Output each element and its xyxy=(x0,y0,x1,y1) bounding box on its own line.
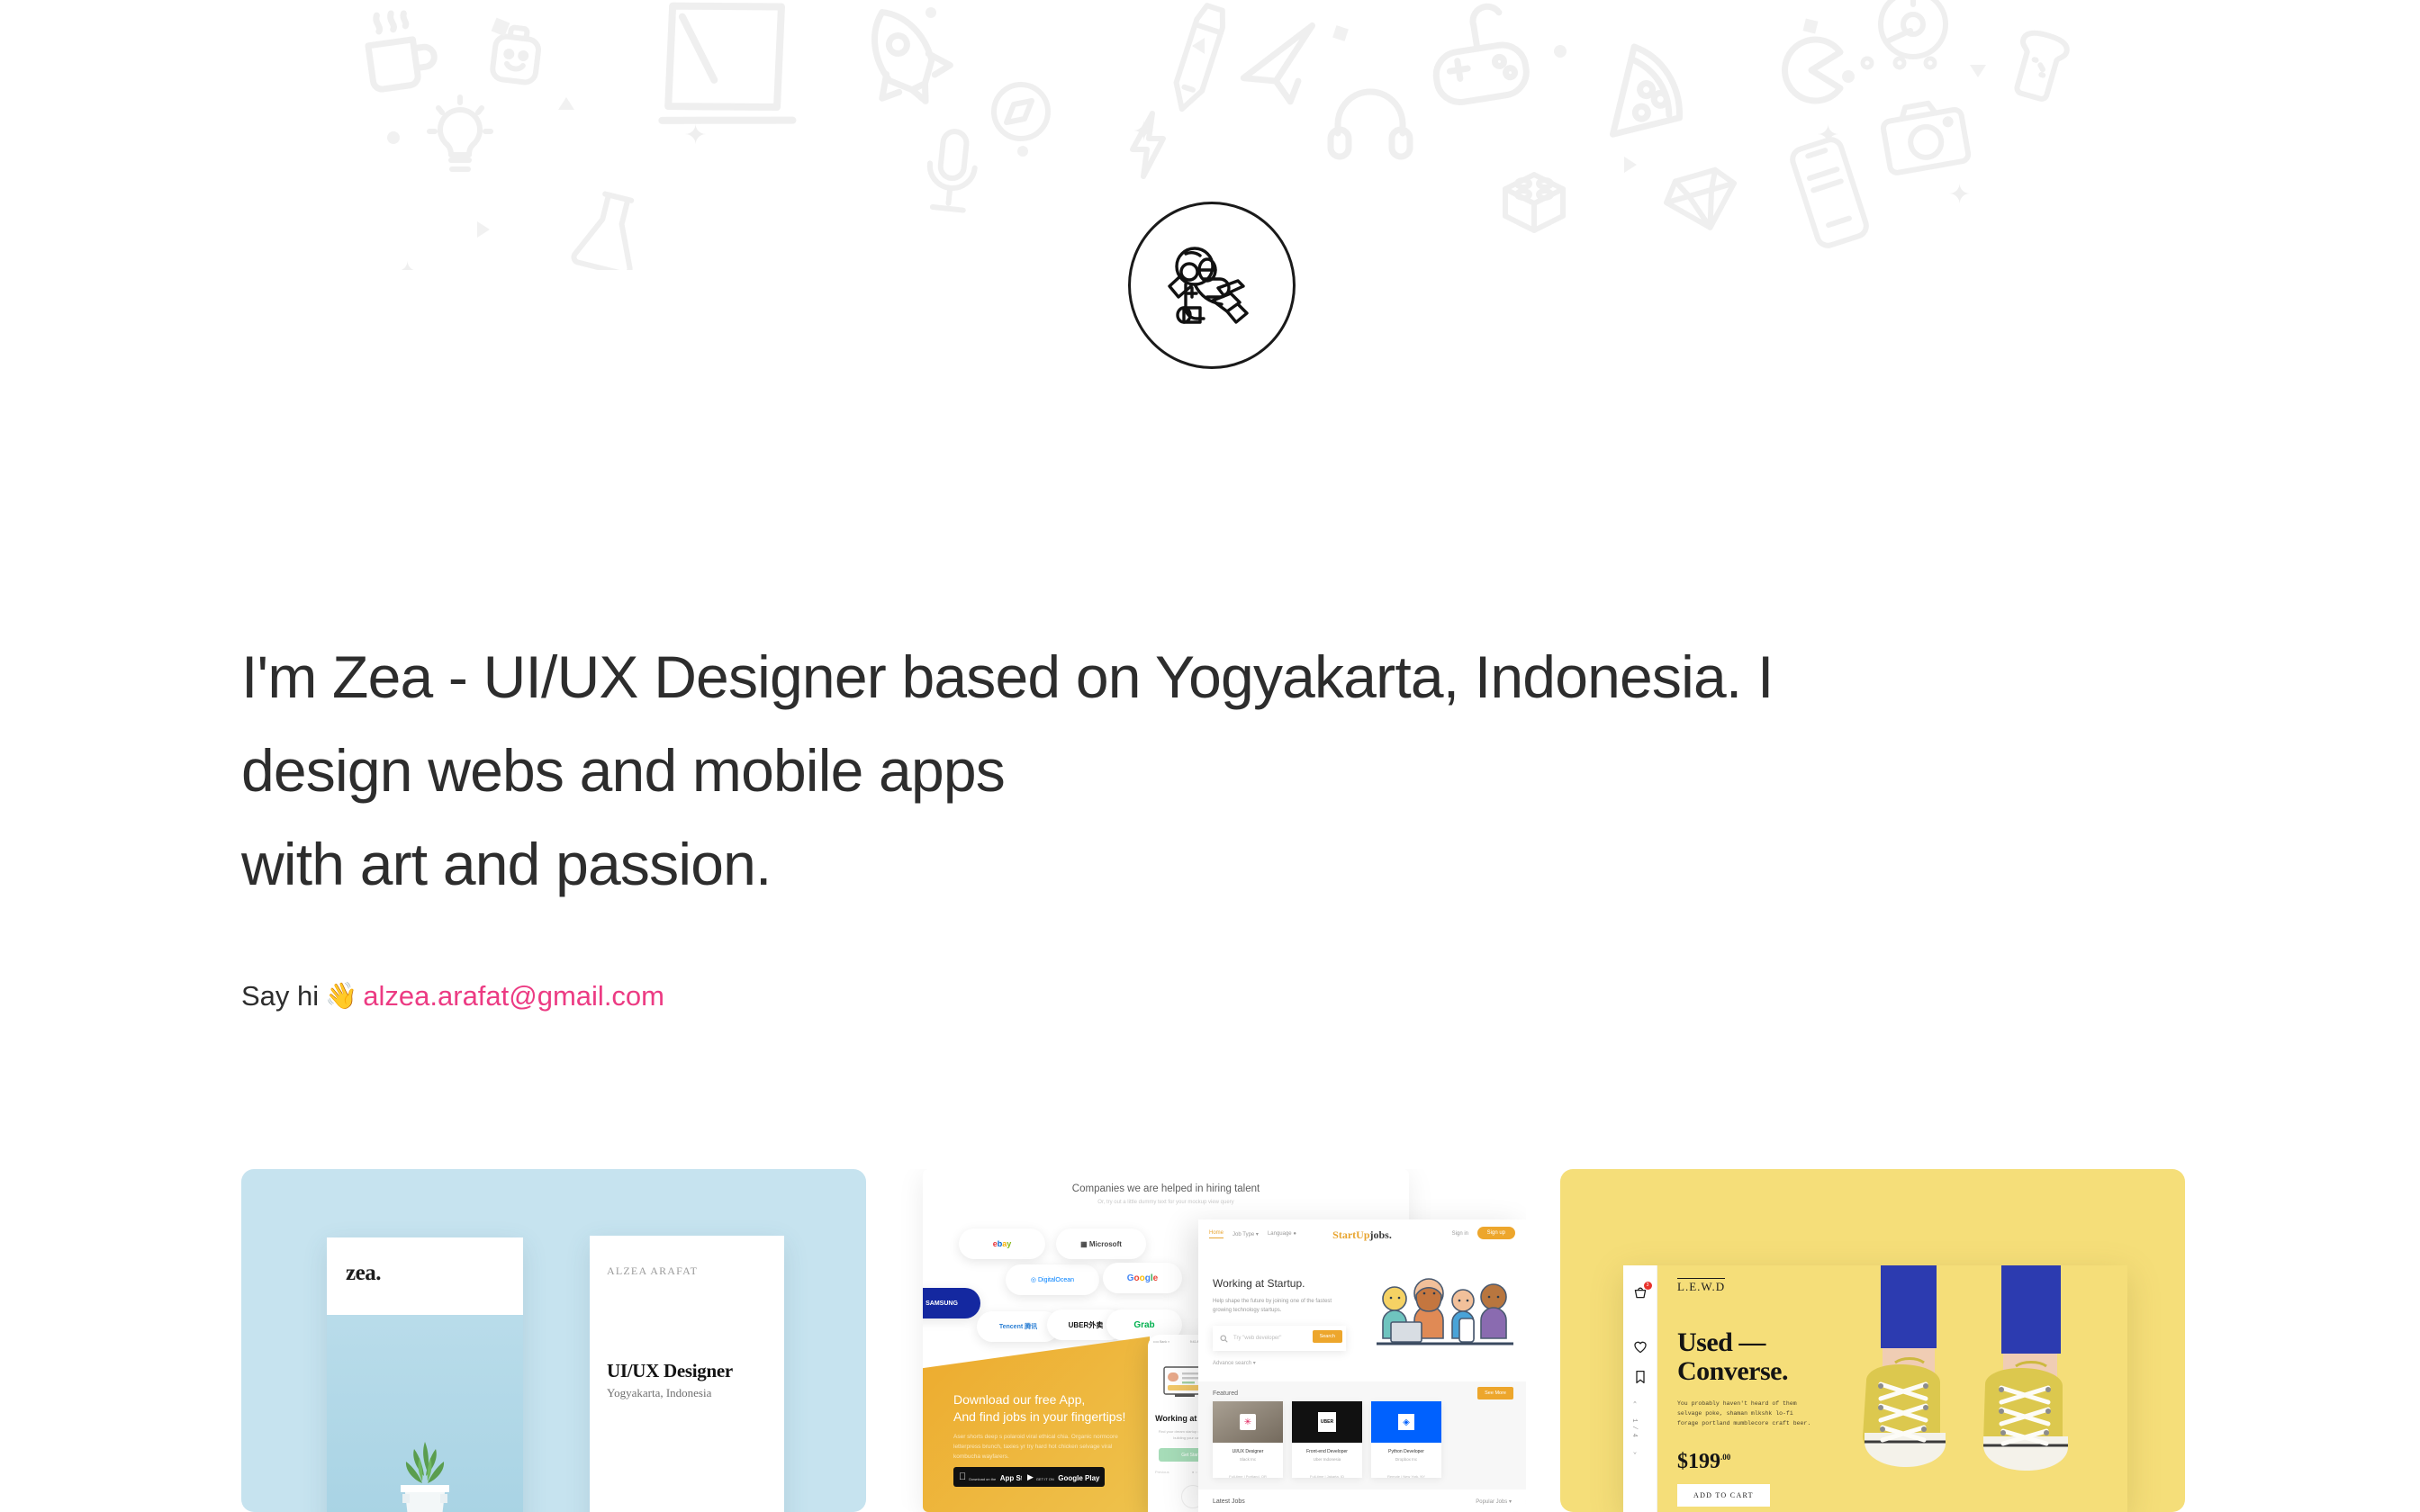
portfolio-cards: zea. xyxy=(0,1169,2420,1512)
job-search-bar[interactable]: Try "web developer" Search xyxy=(1213,1326,1346,1351)
converse-illustration xyxy=(1830,1265,2127,1512)
business-card-role: UI/UX Designer xyxy=(607,1360,733,1382)
email-link[interactable]: alzea.arafat@gmail.com xyxy=(363,977,664,1015)
pacman-icon xyxy=(1775,34,1847,106)
job-thumbnail: ✳ xyxy=(1213,1401,1283,1443)
astronaut-logo[interactable] xyxy=(1128,202,1296,369)
dropbox-logo: ◈ xyxy=(1398,1414,1414,1430)
page-title: I'm Zea - UI/UX Designer based on Yogyak… xyxy=(241,630,2042,911)
paper-plane-icon xyxy=(1226,17,1337,120)
star-icon: ✦ xyxy=(1817,122,1839,149)
see-more-button[interactable]: See More xyxy=(1477,1387,1513,1399)
uber-logo: UBER xyxy=(1318,1412,1336,1432)
product-heading: Used — Converse. xyxy=(1677,1328,1839,1386)
lewd-logo: L.E.W.D xyxy=(1677,1278,1725,1294)
phone-icon xyxy=(1780,129,1880,256)
headline-line-2: design webs and mobile apps xyxy=(241,724,2042,817)
headline-line-3: with art and passion. xyxy=(241,817,2042,911)
pacman-dot-icon xyxy=(1923,56,1937,70)
product-price: $199.00 xyxy=(1677,1450,1730,1474)
decor-dot xyxy=(926,7,936,18)
search-icon xyxy=(1220,1335,1228,1343)
phone-previous[interactable]: Previous xyxy=(1155,1470,1169,1474)
decor-triangle xyxy=(1192,38,1205,54)
startupjobs-website: Home Job Type ▾ Language ● StartUpjobs. … xyxy=(1198,1219,1526,1512)
job-title: Python Developer xyxy=(1371,1449,1441,1454)
astronaut-illustration xyxy=(1159,232,1265,338)
job-company: Dropbox Inc xyxy=(1371,1457,1441,1462)
diamond-icon xyxy=(1656,157,1749,246)
decor-triangle xyxy=(1624,157,1637,173)
business-card-front: zea. xyxy=(327,1237,523,1512)
site-hero-paragraph: Help shape the future by joining one of … xyxy=(1213,1297,1348,1315)
microphone-icon xyxy=(912,122,991,223)
portfolio-card-shop[interactable]: 3 ⌃ 1/4 ⌄ L.E.W.D xyxy=(1560,1169,2185,1512)
product-heading-line-2: Converse. xyxy=(1677,1357,1839,1386)
camera-icon xyxy=(1874,90,1975,182)
business-card-logo-panel: zea. xyxy=(327,1237,523,1315)
job-meta: Full-time | Portland, OR xyxy=(1213,1474,1283,1478)
job-title: Front-end Developer xyxy=(1292,1449,1362,1454)
business-card-location: Yogyakarta, Indonesia xyxy=(607,1386,711,1400)
company-logo-samsung: SAMSUNG xyxy=(923,1288,980,1318)
cart-icon[interactable]: 3 xyxy=(1633,1285,1648,1304)
featured-label: Featured xyxy=(1213,1390,1238,1397)
pager-value: 1/4 xyxy=(1630,1418,1638,1441)
waving-hand-icon: 👋 xyxy=(325,984,357,1010)
decor-dot xyxy=(1017,146,1028,157)
toast-icon xyxy=(1995,21,2083,111)
headline-line-1: I'm Zea - UI/UX Designer based on Yogyak… xyxy=(241,630,2042,724)
portfolio-page: ✦ ✦ ✦ ✦ ✦ xyxy=(0,0,2420,1512)
shop-browser-window: 3 ⌃ 1/4 ⌄ L.E.W.D xyxy=(1623,1265,2127,1512)
heart-icon[interactable] xyxy=(1633,1340,1648,1359)
decor-dot xyxy=(1842,70,1855,83)
popular-jobs-filter[interactable]: Popular Jobs ▾ xyxy=(1476,1498,1512,1505)
job-card[interactable]: ✳ UI/UX Designer Slack Inc Full-time | P… xyxy=(1213,1401,1283,1478)
say-hi-label: Say hi xyxy=(241,977,319,1015)
sign-up-button[interactable]: Sign up xyxy=(1477,1227,1515,1239)
latest-jobs-label: Latest Jobs xyxy=(1213,1498,1245,1505)
company-logo-ebay: ebay xyxy=(959,1228,1045,1259)
job-company: Uber Indonesia xyxy=(1292,1457,1362,1462)
startupjobs-logo: StartUpjobs. xyxy=(1332,1228,1392,1242)
business-card-back: ALZEA ARAFAT UI/UX Designer Yogyakarta, … xyxy=(590,1236,784,1512)
decor-square xyxy=(492,18,510,37)
companies-subheading: Or, try out a little dummy text for your… xyxy=(923,1200,1409,1205)
lightbulb-icon xyxy=(423,94,497,184)
portfolio-card-branding[interactable]: zea. xyxy=(241,1169,866,1512)
add-to-cart-button[interactable]: ADD TO CART xyxy=(1677,1484,1770,1507)
nav-item-language[interactable]: Language ● xyxy=(1268,1231,1296,1237)
contact-line: Say hi 👋 alzea.arafat@gmail.com xyxy=(241,977,664,1015)
download-heading: Download our free App, And find jobs in … xyxy=(953,1391,1142,1426)
disc-icon xyxy=(1874,0,1952,63)
mug-icon xyxy=(353,2,447,99)
lego-brick-icon xyxy=(1498,164,1570,238)
job-title: UI/UX Designer xyxy=(1213,1449,1283,1454)
brand-part-b: jobs. xyxy=(1370,1228,1392,1241)
decor-square xyxy=(1803,19,1819,34)
company-logo-digitalocean: ◎ DigitalOcean xyxy=(1006,1264,1099,1295)
brand-part-a: StartUp xyxy=(1332,1228,1369,1241)
company-logo-google: Google xyxy=(1103,1263,1182,1293)
flask-icon xyxy=(565,184,654,270)
sign-in-link[interactable]: Sign in xyxy=(1452,1231,1468,1237)
gamepad-icon xyxy=(1420,0,1536,115)
business-card-name: ALZEA ARAFAT xyxy=(607,1264,698,1278)
image-pager[interactable]: ⌃ 1/4 ⌄ xyxy=(1630,1400,1638,1459)
search-placeholder: Try "web developer" xyxy=(1233,1336,1281,1341)
nav-item-job-type[interactable]: Job Type ▾ xyxy=(1233,1231,1259,1237)
headphones-icon xyxy=(1327,83,1413,160)
job-card[interactable]: ◈ Python Developer Dropbox Inc Remote | … xyxy=(1371,1401,1441,1478)
portfolio-card-jobs[interactable]: Companies we are helped in hiring talent… xyxy=(901,1169,1526,1512)
job-thumbnail: ◈ xyxy=(1371,1401,1441,1443)
price-cents: .00 xyxy=(1720,1453,1730,1462)
pencil-icon xyxy=(1155,0,1241,122)
cart-count-badge: 3 xyxy=(1644,1282,1652,1290)
rocket-icon xyxy=(838,0,971,127)
business-card-photo xyxy=(327,1315,523,1512)
decor-dot xyxy=(1554,45,1567,58)
nav-item-home[interactable]: Home xyxy=(1209,1230,1224,1238)
compass-icon xyxy=(989,79,1053,144)
team-illustration xyxy=(1373,1272,1517,1354)
decor-triangle xyxy=(1970,65,1986,77)
bookmark-icon[interactable] xyxy=(1634,1370,1647,1389)
star-icon: ✦ xyxy=(1948,182,1971,209)
pizza-icon xyxy=(1598,36,1708,163)
laptop-icon xyxy=(624,0,825,162)
price-value: $199 xyxy=(1677,1450,1720,1473)
star-icon: ✦ xyxy=(684,122,707,149)
zea-logo: zea. xyxy=(346,1261,381,1286)
pager-up-arrow[interactable]: ⌃ xyxy=(1630,1400,1638,1411)
search-button[interactable]: Search xyxy=(1313,1330,1342,1343)
decor-dot xyxy=(387,131,400,144)
pager-down-arrow[interactable]: ⌄ xyxy=(1630,1448,1638,1459)
download-heading-line-1: Download our free App, xyxy=(953,1391,1142,1408)
job-meta: Remote | New York, NY xyxy=(1371,1474,1441,1478)
job-company: Slack Inc xyxy=(1213,1457,1283,1462)
phone-carrier: ••••• Bank ≡ xyxy=(1153,1340,1169,1344)
advance-search-toggle[interactable]: Advance search ▾ xyxy=(1213,1360,1256,1366)
job-card[interactable]: UBER Front-end Developer Uber Indonesia … xyxy=(1292,1401,1362,1478)
pacman-dot-icon xyxy=(1860,56,1874,70)
site-hero-title: Working at Startup. xyxy=(1213,1277,1305,1290)
decor-square xyxy=(1332,25,1349,41)
star-icon: ✦ xyxy=(1133,119,1155,146)
download-heading-line-2: And find jobs in your fingertips! xyxy=(953,1408,1142,1426)
shop-side-rail: 3 ⌃ 1/4 ⌄ xyxy=(1623,1265,1657,1512)
pacman-dot-icon xyxy=(1892,56,1907,70)
succulent-illustration xyxy=(386,1438,464,1512)
download-paragraph: Aser shorts deep s polaroid viral ethica… xyxy=(953,1432,1124,1462)
shop-product-panel: L.E.W.D Used — Converse. You probably ha… xyxy=(1657,1265,2127,1512)
google-play-label: Google Play xyxy=(1058,1474,1099,1482)
plant-photo xyxy=(386,1438,464,1512)
google-play-small-label: GET IT ON xyxy=(1036,1477,1054,1481)
product-description: You probably haven't heard of them selva… xyxy=(1677,1399,1812,1428)
sneaker-photo xyxy=(1830,1265,2127,1512)
decor-triangle xyxy=(558,97,574,110)
decor-triangle xyxy=(477,221,490,238)
job-thumbnail: UBER xyxy=(1292,1401,1362,1443)
star-icon: ✦ xyxy=(396,259,419,270)
lightning-icon xyxy=(1124,110,1170,180)
app-store-small-label: Download on the xyxy=(969,1477,996,1481)
company-logo-microsoft: ▦ Microsoft xyxy=(1056,1228,1146,1259)
companies-heading: Companies we are helped in hiring talent xyxy=(923,1183,1409,1194)
slack-logo: ✳ xyxy=(1240,1414,1256,1430)
lego-head-icon xyxy=(484,22,547,91)
logo-circle xyxy=(1128,202,1296,369)
product-heading-line-1: Used — xyxy=(1677,1328,1839,1357)
job-meta: Full-time | Jakarta, ID xyxy=(1292,1474,1362,1478)
google-play-button[interactable]: ▶ GET IT ON Google Play xyxy=(1022,1467,1105,1487)
